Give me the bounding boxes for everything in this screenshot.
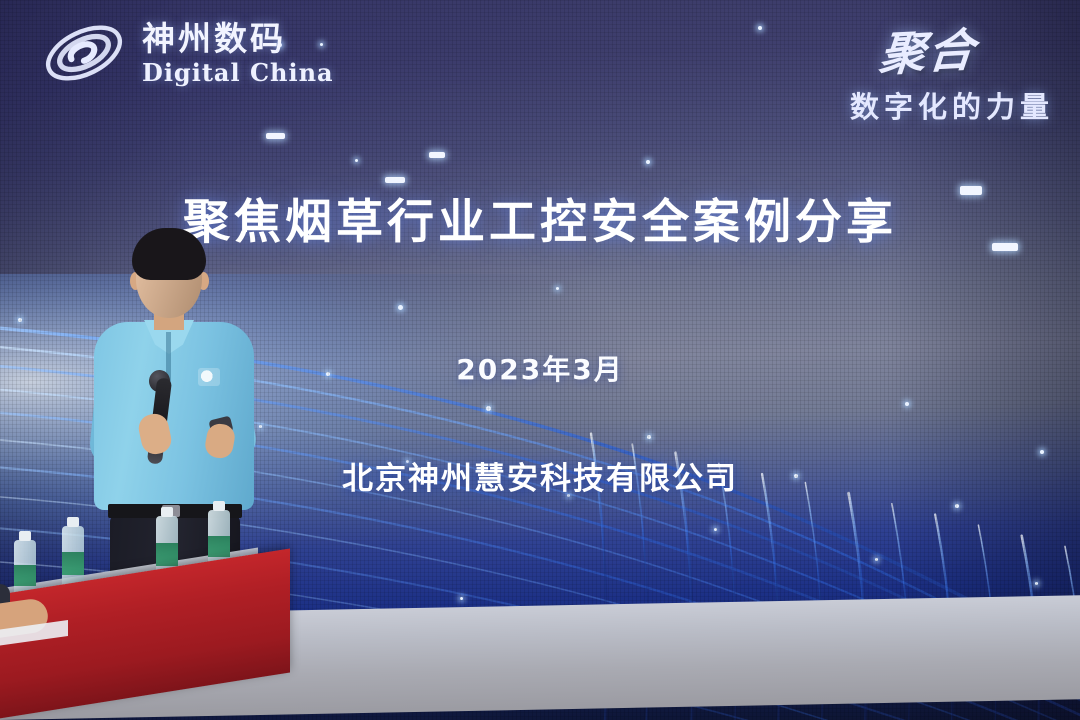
slogan-subtitle: 数字化的力量: [850, 84, 1054, 126]
foreground-table: [0, 560, 290, 720]
brand-name-en: Digital China: [142, 61, 334, 85]
digital-china-brand-lockup: 神州数码 Digital China: [40, 18, 334, 88]
event-slogan: 聚合 数字化的力量: [850, 16, 1054, 126]
conference-stage-photo: 神州数码 Digital China 聚合 数字化的力量 聚焦烟草行业工控安全案…: [0, 0, 1080, 720]
slogan-calligraphy: 聚合: [877, 14, 979, 85]
polo-shirt-logo-icon: [198, 368, 220, 386]
brand-name-cn: 神州数码: [142, 22, 334, 55]
digital-china-swirl-icon: [40, 18, 128, 88]
seated-attendee: [0, 572, 70, 642]
